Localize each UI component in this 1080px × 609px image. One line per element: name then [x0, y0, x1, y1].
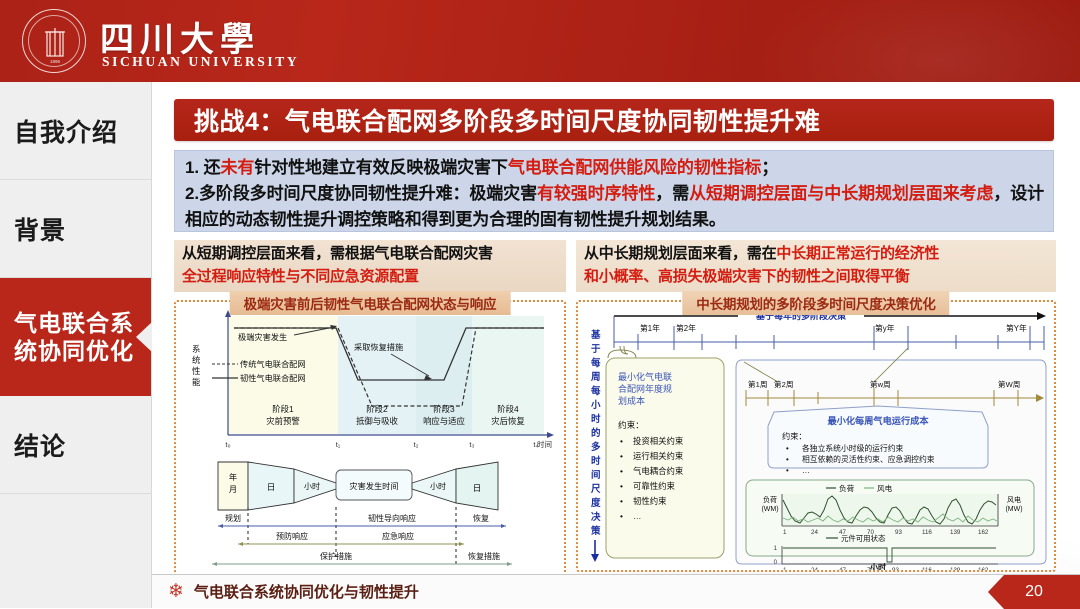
timeline-block-day-right: 日	[473, 483, 482, 493]
slide-footer: ❄ 气电联合系统协同优化与韧性提升 20	[152, 574, 1080, 608]
short-term-caption-line1: 从短期调控层面来看，需根据气电联合配网灾害	[182, 243, 560, 266]
week-tick-2: 第2周	[774, 379, 793, 389]
bar1-label-mid: 韧性导向响应	[368, 513, 416, 523]
long-term-caption-line1: 从中长期规划层面来看，需在中长期正常运行的经济性	[584, 243, 1050, 266]
desc-2-text-b: 有较强时序特性	[537, 184, 655, 203]
year-tick-y: 第y年	[875, 323, 895, 333]
vertical-label: 基	[590, 329, 601, 341]
svg-text:周: 周	[591, 372, 601, 383]
page-title: 挑战4：气电联合配网多阶段多时间尺度协同韧性提升难	[194, 102, 820, 138]
year-tick-Y: 第Y年	[1006, 323, 1027, 333]
legend-traditional: 传统气电联合配网	[240, 359, 306, 369]
annual-box-title-l1: 最小化气电联	[618, 371, 672, 382]
description-line-2: 2.多阶段多时间尺度协同韧性提升难：极端灾害有较强时序特性，需从短期调控层面与中…	[185, 181, 1045, 233]
challenge-description: 1. 还未有针对性地建立有效反映极端灾害下气电联合配网供能风险的韧性指标； 2.…	[174, 150, 1054, 232]
annotation-disaster-label: 极端灾害发生	[238, 332, 287, 342]
ylabel-wind-1: 风电	[1007, 495, 1021, 504]
annual-constraint-head: 约束：	[618, 419, 644, 430]
timeline-center-box: 灾害发生时间	[349, 481, 398, 491]
phase-3-name: 响应与适应	[423, 416, 465, 426]
tick-t3: t₃	[469, 440, 474, 449]
timeline-block-month: 月	[229, 485, 237, 494]
annual-bullet-2: •	[620, 451, 623, 461]
svg-text:性: 性	[192, 366, 200, 376]
weekly-box-title: 最小化每周气电运行成本	[827, 415, 929, 426]
xtick-top-24: 24	[811, 529, 818, 536]
year-tick-2: 第2年	[676, 323, 696, 333]
xtick-top-139: 139	[950, 529, 961, 536]
svg-text:尺: 尺	[591, 484, 601, 495]
weekly-bullet-2: •	[786, 455, 789, 464]
xtick-top-93: 93	[895, 529, 902, 536]
svg-text:每: 每	[591, 385, 601, 397]
desc-1-text-b: 未有	[221, 158, 255, 177]
long-term-caption-b: 中长期正常运行的经济性	[776, 245, 939, 262]
desc-1-text-c: 针对性地建立有效反映极端灾害下	[254, 158, 508, 177]
svg-text:能: 能	[192, 377, 201, 387]
annual-constraint-5: 韧性约束	[633, 496, 667, 506]
weekly-bullet-1: •	[786, 444, 789, 453]
weekly-constraint-head: 约束：	[782, 431, 807, 441]
sidebar-item-background[interactable]: 背景	[0, 180, 151, 278]
timeline-block-hour-left: 小时	[304, 481, 320, 491]
annual-constraint-6: …	[633, 511, 641, 521]
annual-bullet-3: •	[620, 466, 623, 476]
svg-text:时: 时	[591, 455, 601, 467]
ylabel-wind-2: (MW)	[1005, 506, 1022, 513]
slide-title-bar: 挑战4：气电联合配网多阶段多时间尺度协同韧性提升难	[174, 99, 1054, 141]
svg-text:时: 时	[591, 413, 601, 425]
sidebar-item-label: 结论	[14, 427, 66, 463]
bar1-label-right: 恢复	[473, 513, 489, 523]
bar1-label-left: 规划	[225, 513, 241, 523]
annual-box-title-l2: 合配网年度规	[618, 383, 672, 394]
year-tick-1: 第1年	[640, 323, 660, 333]
weekly-constraint-2: 相互依赖的灵活性约束、应急调控约束	[802, 454, 935, 464]
desc-2-text-a: 2.多阶段多时间尺度协同韧性提升难：极端灾害	[185, 184, 537, 203]
timeline-block-hour-right: 小时	[430, 481, 446, 491]
resilience-curve-chart: 极端灾害发生 采取恢复措施 传统气电联合配网 韧性气电联合配网 系 统 性 能 …	[176, 302, 564, 576]
desc-1-text-d: 气电联合配网供能风险的韧性指标	[508, 158, 762, 177]
short-term-panel: 从短期调控层面来看，需根据气电联合配网灾害 全过程响应特性与不同应急资源配置 极…	[174, 240, 566, 580]
phase-2-num: 阶段2	[366, 404, 388, 414]
xtick-bot-47: 47	[839, 567, 846, 570]
week-tick-W: 第W周	[998, 379, 1020, 389]
long-term-subtitle: 中长期规划的多阶段多时间尺度决策优化	[682, 291, 949, 315]
desc-1-text-a: 1. 还	[185, 158, 221, 177]
phase-1-name: 灾前预警	[266, 416, 300, 426]
legend-resilient: 韧性气电联合配网	[240, 373, 306, 383]
sidebar-item-label-line2: 统协同优化	[14, 337, 134, 365]
top-banner: 1896 四川大學 SICHUAN UNIVERSITY	[0, 0, 1080, 82]
bar2-label-right: 应急响应	[382, 531, 414, 541]
tick-t2: t₂	[414, 440, 419, 449]
annual-constraint-4: 可靠性约束	[633, 481, 675, 491]
x-axis-label: 时间	[537, 439, 552, 449]
week-tick-1: 第1周	[748, 379, 767, 389]
phase-4-num: 阶段4	[497, 404, 519, 414]
ylabel-load-1: 负荷	[763, 495, 777, 504]
desc-2-text-c: ，需	[655, 184, 689, 203]
university-seal-logo: 1896	[22, 9, 86, 73]
legend-availability: 元件可用状态	[841, 534, 886, 543]
annual-box-title-l3: 划成本	[618, 395, 645, 406]
tick-t0: t₀	[225, 440, 230, 449]
legend-load: 负荷	[839, 483, 855, 493]
phase-4-name: 灾后恢复	[491, 416, 525, 426]
svg-text:每: 每	[591, 357, 601, 369]
annual-bullet-4: •	[620, 481, 623, 491]
svg-text:统: 统	[192, 355, 201, 365]
xtick-bot-93: 93	[892, 567, 899, 570]
short-term-diagram: 极端灾害前后韧性气电联合配网状态与响应 极端灾害发生	[174, 300, 566, 578]
xlabel-hour: 小时	[869, 562, 886, 570]
sidebar-item-label: 背景	[14, 211, 66, 247]
annual-constraint-2: 运行相关约束	[633, 451, 684, 461]
sidebar-item-conclusion[interactable]: 结论	[0, 396, 151, 494]
svg-text:度: 度	[591, 497, 601, 509]
annual-constraint-3: 气电耦合约束	[633, 466, 684, 476]
desc-2-text-d: 从短期调控层面与中长期规划层面来考虑	[689, 184, 993, 203]
phase-3-num: 阶段3	[433, 404, 455, 414]
svg-text:于: 于	[591, 344, 601, 355]
bar3-label-right: 恢复措施	[468, 551, 500, 561]
annual-bullet-1: •	[620, 436, 623, 446]
sidebar-nav: 自我介绍 背景 气电联合系 统协同优化 结论	[0, 82, 152, 608]
svg-text:策: 策	[590, 525, 601, 537]
sidebar-item-label-line1: 气电联合系	[14, 309, 134, 337]
bar2-label-left: 预防响应	[276, 531, 308, 541]
footer-text: 气电联合系统协同优化与韧性提升	[194, 581, 419, 602]
slide-content: 挑战4：气电联合配网多阶段多时间尺度协同韧性提升难 1. 还未有针对性地建立有效…	[152, 82, 1080, 608]
xtick-bot-24: 24	[811, 567, 818, 570]
desc-1-text-e: ；	[761, 158, 778, 177]
svg-text:间: 间	[591, 469, 601, 481]
short-term-caption: 从短期调控层面来看，需根据气电联合配网灾害 全过程响应特性与不同应急资源配置	[174, 240, 566, 292]
timeline-block-year: 年	[229, 472, 237, 482]
ylabel-load-2: (WM)	[761, 506, 778, 513]
page-number: 20	[988, 575, 1080, 609]
annual-bullet-6: •	[620, 511, 623, 521]
xtick-top-116: 116	[922, 529, 932, 536]
short-term-subtitle: 极端灾害前后韧性气电联合配网状态与响应	[230, 291, 511, 315]
annual-bullet-5: •	[620, 496, 623, 506]
phase-1-num: 阶段1	[272, 404, 294, 414]
xtick-bot-1: 1	[783, 567, 787, 570]
description-line-1: 1. 还未有针对性地建立有效反映极端灾害下气电联合配网供能风险的韧性指标；	[185, 155, 1045, 181]
long-term-panel: 从中长期规划层面来看，需在中长期正常运行的经济性 和小概率、高损失极端灾害下的韧…	[576, 240, 1056, 580]
legend-wind: 风电	[877, 483, 893, 493]
long-term-diagram: 中长期规划的多阶段多时间尺度决策优化 基 于 每 周 每 小 时 的 多 时 间…	[576, 300, 1056, 572]
xtick-bot-162: 162	[978, 567, 989, 570]
svg-text:1896: 1896	[50, 59, 61, 64]
long-term-caption: 从中长期规划层面来看，需在中长期正常运行的经济性 和小概率、高损失极端灾害下的韧…	[576, 240, 1056, 292]
flame-icon: ❄	[168, 582, 184, 601]
short-term-caption-line2: 全过程响应特性与不同应急资源配置	[182, 266, 560, 289]
sidebar-item-gas-power-optimization[interactable]: 气电联合系 统协同优化	[0, 278, 151, 396]
bar3-label-left: 保护措施	[320, 551, 352, 561]
xtick-bot-139: 139	[950, 567, 961, 570]
tick-t1: t₁	[336, 440, 341, 449]
y-axis-label: 系	[192, 344, 200, 354]
long-term-caption-line2: 和小概率、高损失极端灾害下的韧性之间取得平衡	[584, 266, 1050, 289]
weekly-constraint-1: 各独立系统小时级的运行约束	[802, 443, 904, 453]
annual-constraint-1: 投资相关约束	[633, 436, 684, 446]
xtick-top-162: 162	[978, 529, 989, 536]
weekly-constraint-3: …	[802, 466, 810, 475]
xtick-top-1: 1	[783, 529, 787, 536]
phase-2-name: 抵御与吸收	[356, 416, 398, 426]
weekly-bullet-3: •	[786, 466, 789, 475]
multistage-decision-chart: 基 于 每 周 每 小 时 的 多 时 间 尺 度 决 策	[578, 302, 1054, 570]
svg-text:的: 的	[591, 427, 601, 439]
svg-text:决: 决	[591, 511, 601, 523]
university-name-en: SICHUAN UNIVERSITY	[102, 54, 299, 70]
sidebar-item-self-intro[interactable]: 自我介绍	[0, 82, 151, 180]
annotation-recovery-label: 采取恢复措施	[354, 342, 403, 352]
long-term-caption-a: 从中长期规划层面来看，需在	[584, 245, 776, 262]
svg-text:小: 小	[590, 399, 601, 411]
svg-text:多: 多	[591, 441, 601, 453]
timeline-block-day-left: 日	[267, 482, 276, 492]
week-tick-w: 第w周	[870, 379, 891, 389]
xtick-bot-116: 116	[922, 567, 932, 570]
sidebar-item-label: 自我介绍	[14, 113, 118, 149]
